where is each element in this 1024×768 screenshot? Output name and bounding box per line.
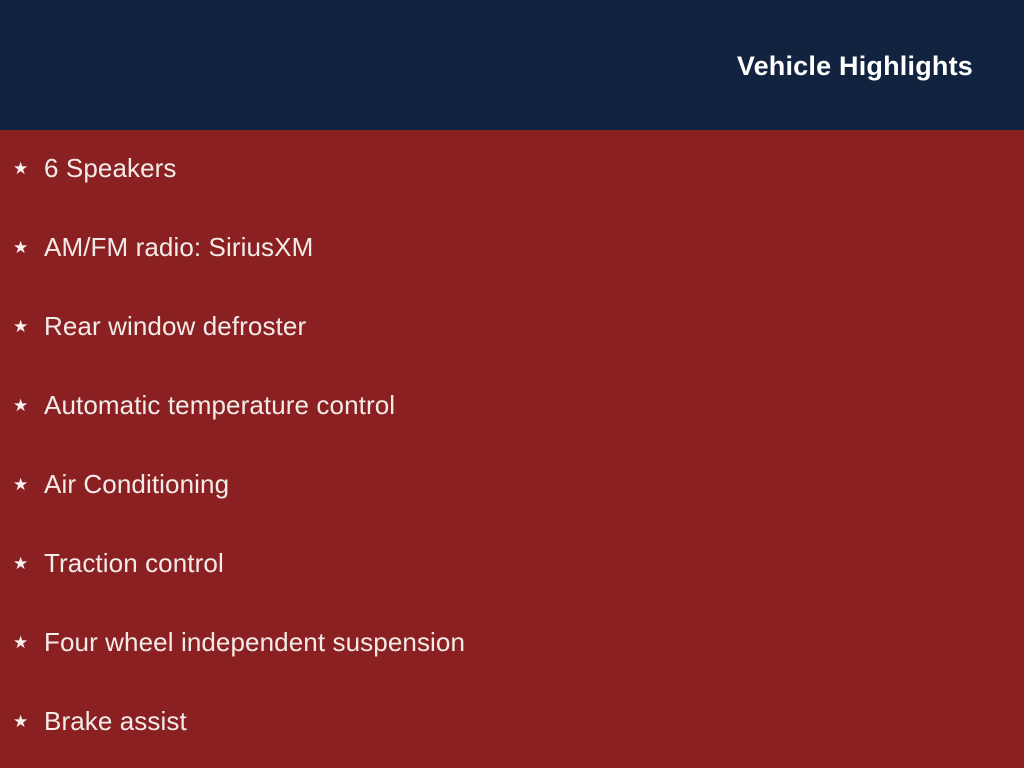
star-bullet-icon: ★ (13, 714, 44, 731)
vehicle-highlights-slide: Vehicle Highlights ★ 6 Speakers ★ AM/FM … (0, 0, 1024, 768)
vehicle-feature-list: ★ 6 Speakers ★ AM/FM radio: SiriusXM ★ R… (0, 130, 1024, 768)
star-bullet-icon: ★ (13, 635, 44, 652)
star-bullet-icon: ★ (13, 477, 44, 494)
star-bullet-icon: ★ (13, 161, 44, 178)
feature-label: Rear window defroster (44, 313, 306, 339)
list-item: ★ Rear window defroster (0, 313, 1024, 392)
list-item: ★ Air Conditioning (0, 471, 1024, 550)
feature-label: Brake assist (44, 708, 187, 734)
feature-label: Automatic temperature control (44, 392, 395, 418)
list-item: ★ Traction control (0, 550, 1024, 629)
feature-label: Air Conditioning (44, 471, 229, 497)
page-title: Vehicle Highlights (737, 52, 973, 82)
star-bullet-icon: ★ (13, 556, 44, 573)
feature-label: 6 Speakers (44, 155, 177, 181)
list-item: ★ AM/FM radio: SiriusXM (0, 234, 1024, 313)
slide-header: Vehicle Highlights (0, 0, 1024, 130)
list-item: ★ Four wheel independent suspension (0, 629, 1024, 708)
list-item: ★ Automatic temperature control (0, 392, 1024, 471)
star-bullet-icon: ★ (13, 319, 44, 336)
feature-label: Four wheel independent suspension (44, 629, 465, 655)
slide-body: ★ 6 Speakers ★ AM/FM radio: SiriusXM ★ R… (0, 130, 1024, 768)
star-bullet-icon: ★ (13, 398, 44, 415)
star-bullet-icon: ★ (13, 240, 44, 257)
feature-label: AM/FM radio: SiriusXM (44, 234, 313, 260)
list-item: ★ Brake assist (0, 708, 1024, 768)
list-item: ★ 6 Speakers (0, 130, 1024, 234)
feature-label: Traction control (44, 550, 224, 576)
